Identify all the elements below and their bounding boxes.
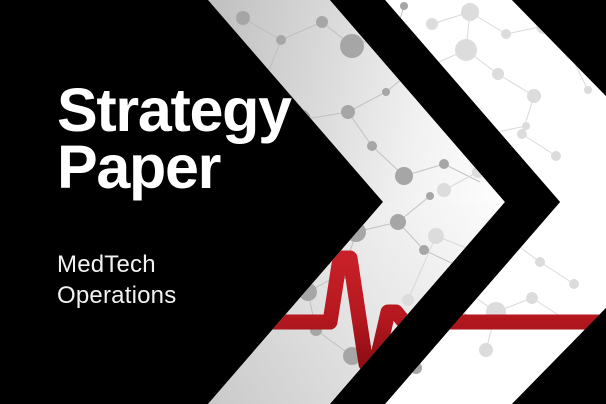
cover-slide: Strategy Paper MedTech Operations (0, 0, 606, 404)
background-artwork (0, 0, 606, 404)
